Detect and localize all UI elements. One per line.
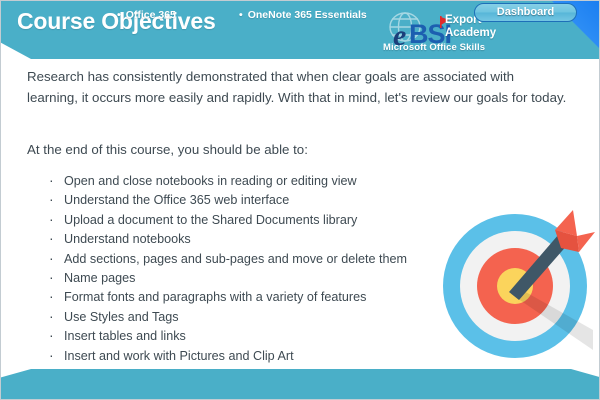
slide-footer-bar (1, 369, 600, 399)
dart-fletch-right (577, 232, 595, 252)
objectives-list: Open and close notebooks in reading or e… (47, 172, 467, 366)
list-item: Insert tables and links (47, 327, 467, 346)
list-item: Insert and work with Pictures and Clip A… (47, 347, 467, 366)
list-item: Upload a document to the Shared Document… (47, 211, 467, 230)
logo-word-academy: Academy (445, 27, 496, 39)
logo-subtitle: Microsoft Office Skills (383, 42, 485, 53)
lead-in-paragraph: At the end of this course, you should be… (27, 139, 567, 160)
target-dartboard-icon (443, 202, 595, 362)
list-item: Add sections, pages and sub-pages and mo… (47, 250, 467, 269)
list-item: Use Styles and Tags (47, 308, 467, 327)
list-item: Format fonts and paragraphs with a varie… (47, 288, 467, 307)
footer-item-office-365: Office 365 (117, 9, 176, 21)
slide-canvas: Course Objectives e BSI Export Academy M… (0, 0, 600, 400)
list-item: Understand notebooks (47, 230, 467, 249)
footer-item-onenote-essentials: OneNote 365 Essentials (239, 9, 367, 21)
list-item: Name pages (47, 269, 467, 288)
dashboard-button[interactable]: Dashboard (474, 3, 577, 22)
target-icon (443, 202, 595, 362)
intro-paragraph: Research has consistently demonstrated t… (27, 66, 567, 108)
list-item: Understand the Office 365 web interface (47, 191, 467, 210)
list-item: Open and close notebooks in reading or e… (47, 172, 467, 191)
